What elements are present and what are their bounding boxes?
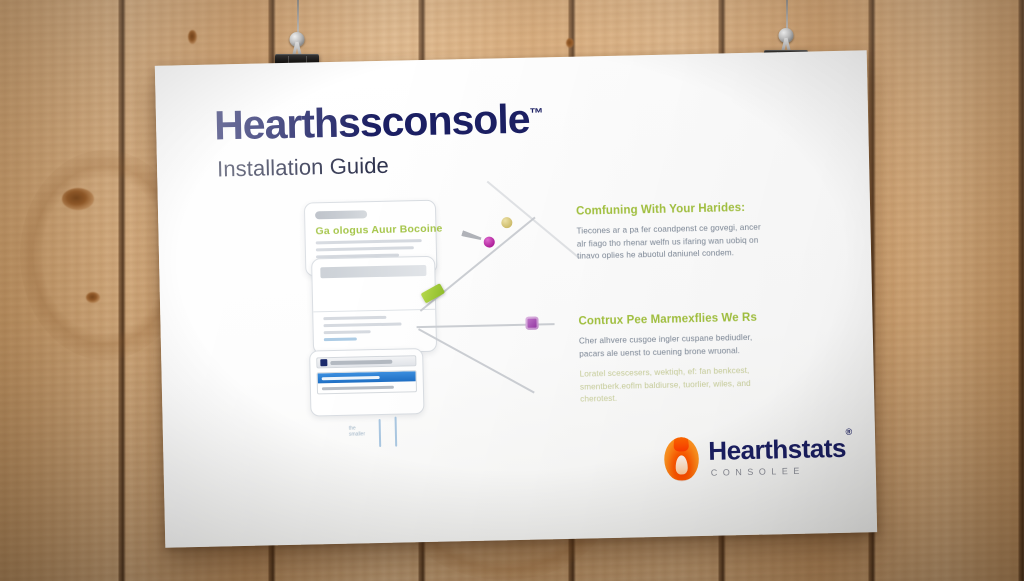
brand-text: Hearthstats® CONSOLEE <box>708 435 853 478</box>
section-block-2: Contrux Pee Marmexflies We Rs Cher alhve… <box>578 311 765 407</box>
connector-line-diagonal-down <box>418 328 534 393</box>
node-magenta[interactable] <box>484 236 495 247</box>
dialog-list[interactable] <box>317 370 417 394</box>
page-subtitle: Installation Guide <box>217 153 389 183</box>
card-body-lines <box>323 315 422 345</box>
list-item-label <box>322 375 380 379</box>
dialog-title-bar <box>316 355 416 368</box>
poster-sheet: Hearthssconsole™ Installation Guide Ga o… <box>155 50 877 547</box>
wood-knot <box>566 38 574 48</box>
arrow-icon <box>461 230 482 242</box>
diagram-card-dialog[interactable] <box>309 348 424 416</box>
card-heading: Ga ologus Auur Bocoine <box>315 223 442 238</box>
flame-drop-icon <box>663 436 700 481</box>
brand-logo: Hearthstats® CONSOLEE <box>663 433 853 481</box>
list-item[interactable] <box>318 381 416 393</box>
section-body: Cher alhvere cusgoe ingler cuspane bediu… <box>579 332 765 361</box>
diagram-footnote: thesmaller <box>349 425 365 437</box>
trademark-symbol: ™ <box>529 105 543 121</box>
brand-name: Hearthstats® <box>708 435 852 464</box>
registered-symbol: ® <box>845 427 851 437</box>
section-heading: Comfuning With Your Harides: <box>576 201 761 219</box>
card-tag-pill <box>315 210 367 219</box>
brand-tagline: CONSOLEE <box>711 466 853 478</box>
window-header-bar <box>320 265 426 278</box>
wood-knot <box>188 30 197 44</box>
node-tan[interactable] <box>501 217 512 228</box>
app-icon <box>320 359 327 366</box>
section-block-1: Comfuning With Your Harides: Tiecones ar… <box>576 201 762 264</box>
list-item-label <box>322 385 394 390</box>
accent-bar <box>379 419 382 447</box>
section-body: Tiecones ar a pa fer coandpenst ce goveg… <box>576 222 762 264</box>
accent-bar <box>395 417 398 447</box>
brand-name-text: Hearthstats <box>708 433 846 466</box>
node-purple-square[interactable] <box>525 317 538 330</box>
section-body-faint: Loratel scescesers, wektiqh, ef: fan ben… <box>580 365 766 407</box>
hanging-wire-left <box>297 0 299 34</box>
section-heading: Contrux Pee Marmexflies We Rs <box>578 311 763 329</box>
page-title: Hearthssconsole™ <box>214 95 544 149</box>
scene: Hearthssconsole™ Installation Guide Ga o… <box>0 0 1024 581</box>
page-title-text: Hearthssconsole <box>214 96 530 149</box>
diagram-card-window[interactable] <box>311 256 437 355</box>
dialog-title-text <box>330 359 392 364</box>
card-divider <box>313 309 435 313</box>
